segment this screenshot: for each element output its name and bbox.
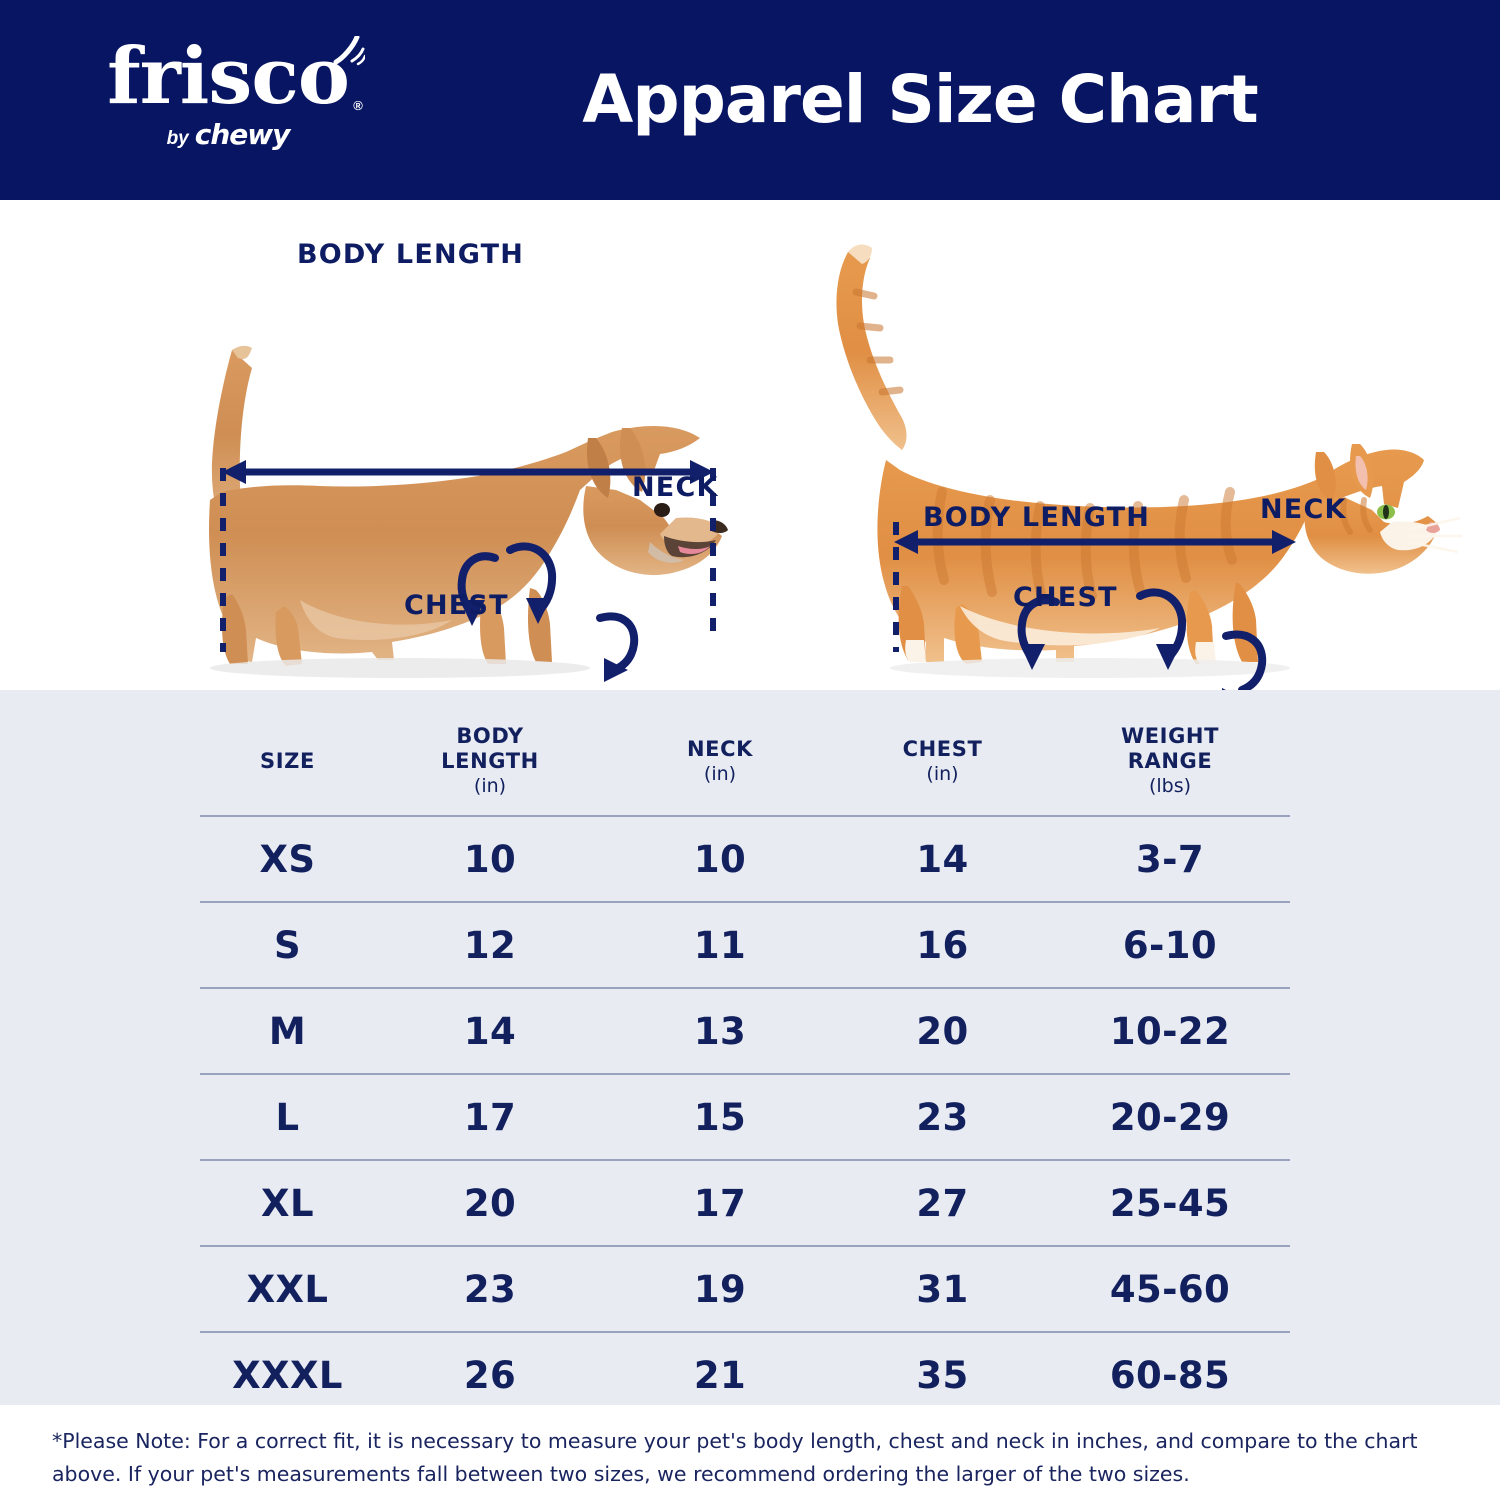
cell-body-length: 23	[375, 1246, 605, 1332]
dog-diagram	[0, 200, 760, 690]
column-header-size: SIZE	[200, 690, 375, 816]
cell-chest: 20	[835, 988, 1050, 1074]
column-header-chest: CHEST (in)	[835, 690, 1050, 816]
frisco-logo: frisco ® by chewy	[78, 38, 378, 168]
cell-chest: 16	[835, 902, 1050, 988]
cell-weight-range: 25-45	[1050, 1160, 1290, 1246]
cell-size: XS	[200, 816, 375, 902]
dog-neck-label: NECK	[632, 472, 719, 503]
cat-tail	[836, 252, 906, 450]
chewy-wordmark: chewy	[195, 118, 290, 151]
table-header-row: SIZE BODY LENGTH (in) NECK (in) CHEST (i…	[200, 690, 1290, 816]
swoosh-icon	[333, 36, 365, 66]
cell-chest: 31	[835, 1246, 1050, 1332]
cat-neck-label: NECK	[1260, 494, 1347, 525]
cell-size: XXL	[200, 1246, 375, 1332]
frisco-wordmark: frisco ®	[107, 38, 349, 116]
page-title: Apparel Size Chart	[400, 52, 1440, 148]
cell-size: S	[200, 902, 375, 988]
size-table-section: SIZE BODY LENGTH (in) NECK (in) CHEST (i…	[0, 690, 1500, 1405]
by-chewy-lockup: by chewy	[78, 118, 378, 151]
table-row: XL 20 17 27 25-45	[200, 1160, 1290, 1246]
cell-chest: 23	[835, 1074, 1050, 1160]
apparel-size-chart-page: frisco ® by chewy Apparel Size Chart	[0, 0, 1500, 1500]
dog-chest-label: CHEST	[404, 590, 509, 621]
table-row: XXL 23 19 31 45-60	[200, 1246, 1290, 1332]
cell-neck: 10	[605, 816, 835, 902]
cell-neck: 19	[605, 1246, 835, 1332]
cell-weight-range: 10-22	[1050, 988, 1290, 1074]
cell-size: XL	[200, 1160, 375, 1246]
cell-neck: 15	[605, 1074, 835, 1160]
measurement-illustrations: BODY LENGTH NECK CHEST	[0, 200, 1500, 690]
cell-body-length: 17	[375, 1074, 605, 1160]
column-header-body-length: BODY LENGTH (in)	[375, 690, 605, 816]
cell-neck: 13	[605, 988, 835, 1074]
cell-weight-range: 20-29	[1050, 1074, 1290, 1160]
table-row: XS 10 10 14 3-7	[200, 816, 1290, 902]
cell-body-length: 10	[375, 816, 605, 902]
column-header-neck: NECK (in)	[605, 690, 835, 816]
logo-by-text: by	[167, 128, 189, 150]
cell-body-length: 20	[375, 1160, 605, 1246]
cell-weight-range: 3-7	[1050, 816, 1290, 902]
cell-weight-range: 6-10	[1050, 902, 1290, 988]
cell-body-length: 12	[375, 902, 605, 988]
cell-size: L	[200, 1074, 375, 1160]
size-chart-table: SIZE BODY LENGTH (in) NECK (in) CHEST (i…	[200, 690, 1290, 1417]
cat-diagram	[760, 200, 1500, 690]
dog-eye	[654, 503, 670, 517]
cell-body-length: 14	[375, 988, 605, 1074]
registered-trademark-icon: ®	[353, 99, 362, 112]
table-row: L 17 15 23 20-29	[200, 1074, 1290, 1160]
page-header: frisco ® by chewy Apparel Size Chart	[0, 0, 1500, 200]
dog-body-length-label: BODY LENGTH	[297, 239, 524, 270]
footnote-text: *Please Note: For a correct fit, it is n…	[52, 1425, 1452, 1491]
column-header-weight-range: WEIGHT RANGE (lbs)	[1050, 690, 1290, 816]
cell-neck: 11	[605, 902, 835, 988]
cat-body-length-label: BODY LENGTH	[923, 502, 1150, 533]
table-row: M 14 13 20 10-22	[200, 988, 1290, 1074]
cell-chest: 14	[835, 816, 1050, 902]
table-row: S 12 11 16 6-10	[200, 902, 1290, 988]
frisco-brand-text: frisco	[107, 31, 349, 122]
cell-weight-range: 45-60	[1050, 1246, 1290, 1332]
footnote-section: *Please Note: For a correct fit, it is n…	[0, 1405, 1500, 1500]
cell-neck: 17	[605, 1160, 835, 1246]
cell-chest: 27	[835, 1160, 1050, 1246]
cat-chest-label: CHEST	[1013, 582, 1118, 613]
cell-size: M	[200, 988, 375, 1074]
